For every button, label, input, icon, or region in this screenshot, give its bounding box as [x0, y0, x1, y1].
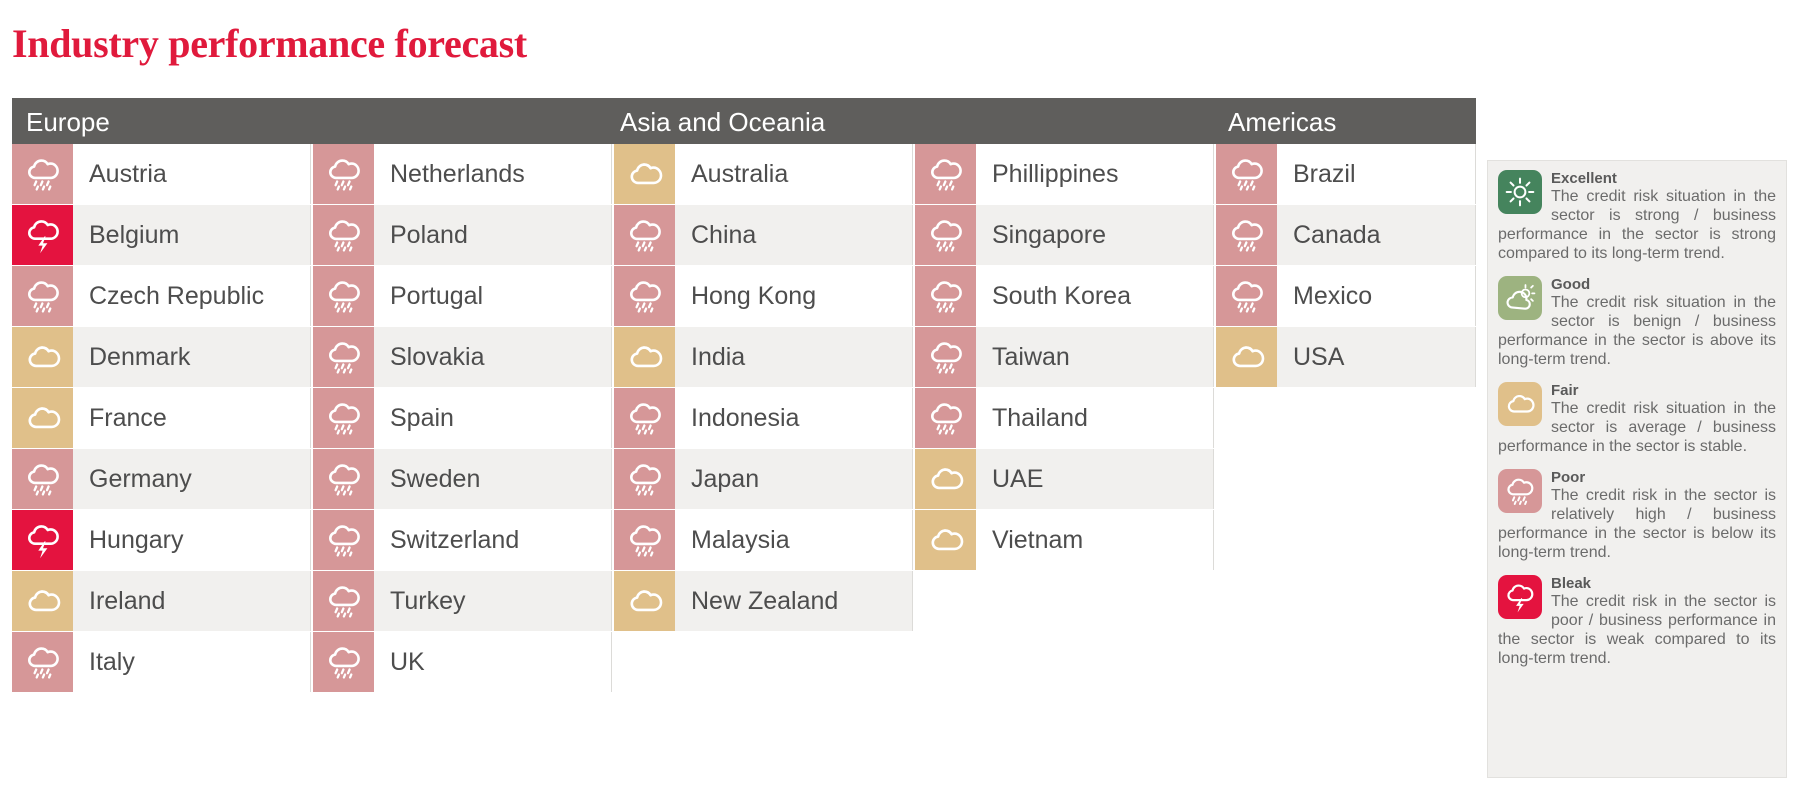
country-name: USA: [1277, 327, 1476, 387]
rain-cloud-icon: [1216, 266, 1277, 326]
region-header-asia-oceania: Asia and Oceania: [620, 108, 825, 136]
legend-item-good: GoodThe credit risk situation in the sec…: [1488, 267, 1786, 373]
country-name: Brazil: [1277, 144, 1476, 204]
country-name: India: [675, 327, 913, 387]
country-name: Turkey: [374, 571, 612, 631]
cloud-icon: [614, 144, 675, 204]
country-name: Vietnam: [976, 510, 1214, 570]
region-header-bar: Europe Asia and Oceania Americas: [12, 98, 1476, 144]
country-name: Belgium: [73, 205, 311, 265]
country-row[interactable]: India: [614, 327, 913, 388]
country-row[interactable]: Hong Kong: [614, 266, 913, 327]
page-title: Industry performance forecast: [12, 22, 527, 66]
country-row[interactable]: Czech Republic: [12, 266, 311, 327]
country-row[interactable]: Singapore: [915, 205, 1214, 266]
country-name: South Korea: [976, 266, 1214, 326]
cloud-icon: [614, 571, 675, 631]
country-row[interactable]: Spain: [313, 388, 612, 449]
country-row[interactable]: Vietnam: [915, 510, 1214, 571]
rain-cloud-icon: [12, 632, 73, 692]
rain-cloud-icon: [313, 571, 374, 631]
country-name: Australia: [675, 144, 913, 204]
country-row[interactable]: Belgium: [12, 205, 311, 266]
country-name: Japan: [675, 449, 913, 509]
country-name: Germany: [73, 449, 311, 509]
rain-cloud-icon: [313, 205, 374, 265]
country-name: China: [675, 205, 913, 265]
country-name: UK: [374, 632, 612, 692]
country-row[interactable]: Japan: [614, 449, 913, 510]
rain-cloud-icon: [614, 510, 675, 570]
rain-cloud-icon: [1216, 144, 1277, 204]
country-name: Poland: [374, 205, 612, 265]
country-column-3: PhillippinesSingaporeSouth KoreaTaiwanTh…: [915, 144, 1214, 571]
country-name: Spain: [374, 388, 612, 448]
rain-cloud-icon: [313, 388, 374, 448]
cloud-icon: [1498, 382, 1542, 426]
country-row[interactable]: Italy: [12, 632, 311, 693]
country-name: Mexico: [1277, 266, 1476, 326]
country-name: Switzerland: [374, 510, 612, 570]
country-row[interactable]: New Zealand: [614, 571, 913, 632]
country-name: Italy: [73, 632, 311, 692]
country-row[interactable]: Thailand: [915, 388, 1214, 449]
cloud-icon: [12, 327, 73, 387]
country-name: Thailand: [976, 388, 1214, 448]
legend-item-bleak: BleakThe credit risk in the sector is po…: [1488, 566, 1786, 672]
rating-legend: ExcellentThe credit risk situation in th…: [1487, 160, 1787, 778]
country-name: Indonesia: [675, 388, 913, 448]
rain-cloud-icon: [614, 266, 675, 326]
country-column-0: AustriaBelgiumCzech RepublicDenmarkFranc…: [12, 144, 311, 693]
country-row[interactable]: UK: [313, 632, 612, 693]
country-column-4: BrazilCanadaMexicoUSA: [1216, 144, 1476, 388]
country-name: Canada: [1277, 205, 1476, 265]
legend-item-excellent: ExcellentThe credit risk situation in th…: [1488, 161, 1786, 267]
rain-cloud-icon: [12, 266, 73, 326]
cloud-icon: [12, 571, 73, 631]
rain-cloud-icon: [313, 327, 374, 387]
country-row[interactable]: France: [12, 388, 311, 449]
country-name: Sweden: [374, 449, 612, 509]
rain-cloud-icon: [915, 388, 976, 448]
country-row[interactable]: Mexico: [1216, 266, 1476, 327]
thunder-cloud-icon: [12, 510, 73, 570]
rain-cloud-icon: [915, 266, 976, 326]
country-name: Czech Republic: [73, 266, 311, 326]
country-name: Taiwan: [976, 327, 1214, 387]
country-row[interactable]: South Korea: [915, 266, 1214, 327]
rain-cloud-icon: [313, 449, 374, 509]
country-name: Ireland: [73, 571, 311, 631]
rain-cloud-icon: [313, 510, 374, 570]
country-row[interactable]: Denmark: [12, 327, 311, 388]
sun-behind-cloud-icon: [1498, 276, 1542, 320]
rain-cloud-icon: [614, 388, 675, 448]
country-row[interactable]: Slovakia: [313, 327, 612, 388]
country-row[interactable]: Switzerland: [313, 510, 612, 571]
country-name: UAE: [976, 449, 1214, 509]
country-name: France: [73, 388, 311, 448]
thunder-cloud-icon: [12, 205, 73, 265]
country-row[interactable]: China: [614, 205, 913, 266]
cloud-icon: [12, 388, 73, 448]
rain-cloud-icon: [915, 327, 976, 387]
cloud-icon: [915, 510, 976, 570]
country-name: Hong Kong: [675, 266, 913, 326]
thunder-cloud-icon: [1498, 575, 1542, 619]
region-header-europe: Europe: [26, 108, 110, 136]
region-header-americas: Americas: [1228, 108, 1336, 136]
country-row[interactable]: Taiwan: [915, 327, 1214, 388]
country-row[interactable]: Canada: [1216, 205, 1476, 266]
rain-cloud-icon: [915, 144, 976, 204]
country-column-1: NetherlandsPolandPortugalSlovakiaSpainSw…: [313, 144, 612, 693]
cloud-icon: [915, 449, 976, 509]
country-row[interactable]: Australia: [614, 144, 913, 205]
rain-cloud-icon: [614, 449, 675, 509]
rain-cloud-icon: [313, 144, 374, 204]
rain-cloud-icon: [1216, 205, 1277, 265]
country-name: Phillippines: [976, 144, 1214, 204]
country-row[interactable]: Netherlands: [313, 144, 612, 205]
country-name: Singapore: [976, 205, 1214, 265]
country-row[interactable]: Turkey: [313, 571, 612, 632]
country-row[interactable]: Poland: [313, 205, 612, 266]
country-name: Netherlands: [374, 144, 612, 204]
country-name: Portugal: [374, 266, 612, 326]
country-row[interactable]: Phillippines: [915, 144, 1214, 205]
country-row[interactable]: Germany: [12, 449, 311, 510]
sun-icon: [1498, 170, 1542, 214]
rain-cloud-icon: [915, 205, 976, 265]
country-column-2: AustraliaChinaHong KongIndiaIndonesiaJap…: [614, 144, 913, 632]
cloud-icon: [1216, 327, 1277, 387]
country-row[interactable]: Malaysia: [614, 510, 913, 571]
rain-cloud-icon: [313, 632, 374, 692]
country-row[interactable]: Ireland: [12, 571, 311, 632]
country-row[interactable]: Austria: [12, 144, 311, 205]
rain-cloud-icon: [12, 449, 73, 509]
country-row[interactable]: UAE: [915, 449, 1214, 510]
country-name: Hungary: [73, 510, 311, 570]
cloud-icon: [614, 327, 675, 387]
country-name: New Zealand: [675, 571, 913, 631]
country-row[interactable]: Brazil: [1216, 144, 1476, 205]
rain-cloud-icon: [1498, 469, 1542, 513]
rain-cloud-icon: [313, 266, 374, 326]
legend-item-poor: PoorThe credit risk in the sector is rel…: [1488, 460, 1786, 566]
rain-cloud-icon: [614, 205, 675, 265]
country-name: Malaysia: [675, 510, 913, 570]
legend-item-fair: FairThe credit risk situation in the sec…: [1488, 373, 1786, 460]
country-name: Slovakia: [374, 327, 612, 387]
country-row[interactable]: Portugal: [313, 266, 612, 327]
country-name: Denmark: [73, 327, 311, 387]
country-row[interactable]: USA: [1216, 327, 1476, 388]
rain-cloud-icon: [12, 144, 73, 204]
country-row[interactable]: Hungary: [12, 510, 311, 571]
country-name: Austria: [73, 144, 311, 204]
country-row[interactable]: Sweden: [313, 449, 612, 510]
country-row[interactable]: Indonesia: [614, 388, 913, 449]
